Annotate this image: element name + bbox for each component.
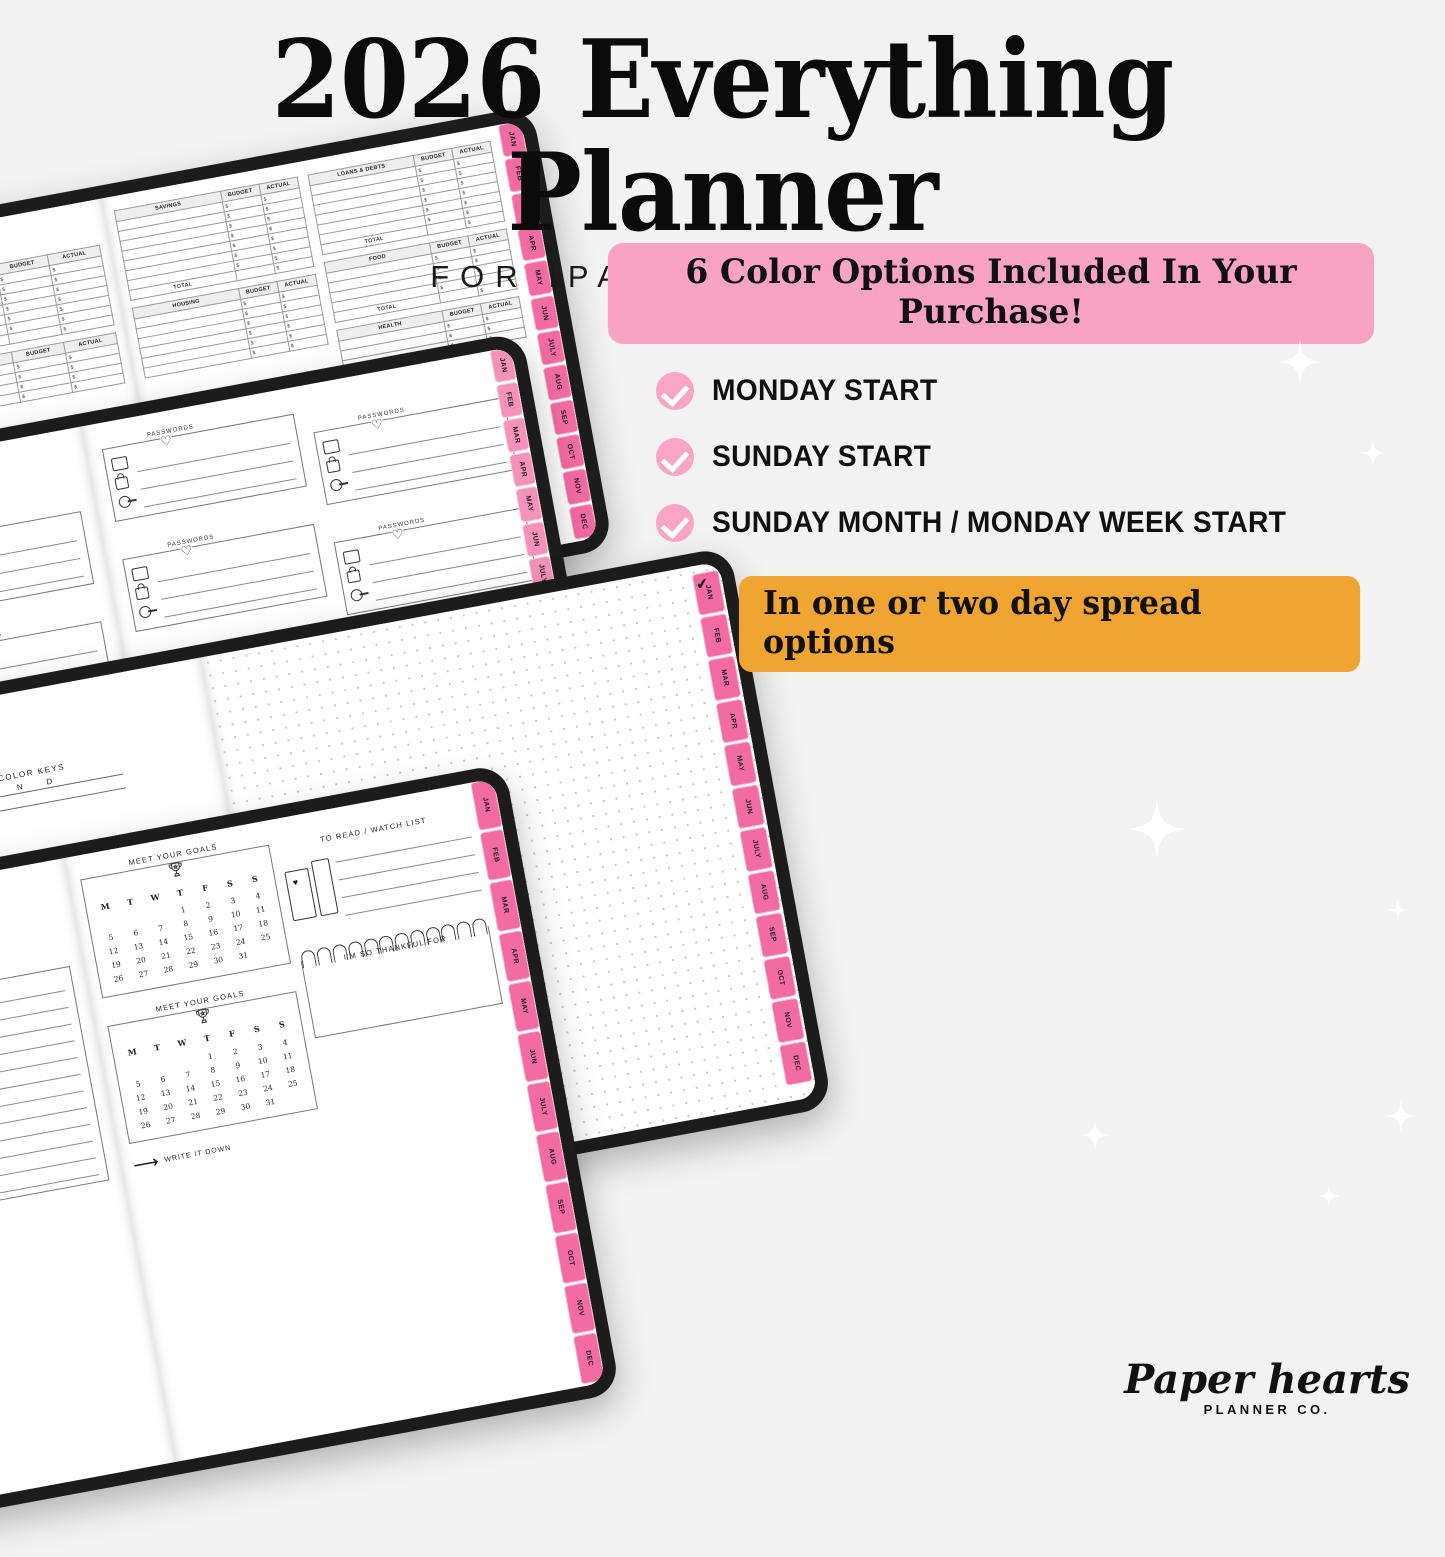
key-icon (118, 495, 132, 509)
password-card-label: PASSWORDS (0, 631, 6, 647)
month-tab-sep[interactable]: SEP (545, 1181, 578, 1234)
calendar-day[interactable]: 27 (157, 1111, 184, 1129)
month-tab-july[interactable]: JULY (526, 1080, 559, 1133)
calendar-day[interactable]: 29 (180, 956, 207, 974)
thankful-section: I'M SO THANKFUL FOR (300, 926, 503, 1039)
lock-icon (346, 569, 361, 583)
lock-icon (114, 476, 129, 490)
page-title: 2026 Everything Planner (58, 24, 1387, 251)
trophy-icon (164, 859, 187, 880)
tablet-monthly-screen: January THIS MONTH'S TO DO'S (0, 779, 606, 1542)
feature-row-sunday-start: SUNDAY START (656, 438, 1386, 476)
monitor-icon (111, 456, 129, 472)
month-tab-apr[interactable]: APR (509, 451, 537, 488)
feature-label: MONDAY START (712, 374, 937, 408)
write-it-down-label: WRITE IT DOWN (164, 1145, 232, 1164)
month-tab-mar[interactable]: MAR (502, 416, 530, 453)
password-card[interactable]: PASSWORDS ♡ (122, 524, 327, 632)
check-icon (656, 438, 694, 476)
feature-label: SUNDAY MONTH / MONDAY WEEK START (712, 506, 1286, 540)
color-options-banner: 6 Color Options Included In Your Purchas… (608, 243, 1374, 344)
heart-icon: ♥ (292, 877, 299, 888)
calendar-day[interactable]: 29 (207, 1102, 234, 1120)
heart-icon: ♡ (370, 417, 384, 432)
check-icon (656, 372, 694, 410)
thankful-note[interactable]: I'M SO THANKFUL FOR (300, 926, 503, 1039)
calendar-day[interactable]: 30 (205, 951, 232, 969)
month-tab-jan[interactable]: JAN (489, 347, 517, 384)
trophy-icon (191, 1005, 214, 1026)
spiral-binding-icon (300, 917, 490, 969)
month-tab-aug[interactable]: AUG (535, 1131, 568, 1184)
password-card[interactable]: PASSWORDS ♡ (0, 511, 94, 619)
month-tab-oct[interactable]: OCT (554, 1231, 587, 1284)
calendar-day[interactable]: 25 (279, 1074, 306, 1092)
calendar-day[interactable]: 28 (182, 1106, 209, 1124)
calendar-day[interactable]: 28 (155, 960, 182, 978)
password-card[interactable]: PASSWORDS ♡ (102, 414, 307, 522)
lock-icon (325, 459, 340, 473)
month-tab-jun[interactable]: JUN (522, 521, 550, 558)
sparkle-icon (1128, 800, 1186, 858)
check-icon (656, 504, 694, 542)
sparkle-icon (1318, 1185, 1340, 1207)
monitor-icon (131, 566, 149, 582)
month-tab-nov[interactable]: NOV (563, 1282, 596, 1335)
logo-sub-text: PLANNER CO. (1124, 1402, 1410, 1417)
heart-icon: ♡ (159, 433, 173, 448)
calendar-day[interactable]: 30 (232, 1097, 259, 1115)
monitor-icon (342, 549, 360, 565)
heart-icon: ♡ (391, 527, 405, 542)
month-tab-dec[interactable]: DEC (573, 1332, 606, 1385)
calendar-day[interactable]: 31 (230, 946, 257, 964)
info-panel: 6 Color Options Included In Your Purchas… (596, 243, 1386, 672)
month-tab-aug[interactable]: AUG (543, 364, 573, 401)
sparkle-icon (1385, 1100, 1417, 1132)
spread-options-badge: In one or two day spread options (739, 576, 1360, 672)
book-icon: ♥ (284, 868, 317, 922)
month-tab-dec[interactable]: DEC (568, 503, 598, 540)
sparkle-icon (1080, 1120, 1110, 1150)
calendar-day[interactable]: 26 (132, 1116, 159, 1134)
month-tab-jun[interactable]: JUN (530, 294, 560, 331)
feature-label: SUNDAY START (712, 440, 931, 474)
key-icon (138, 605, 152, 619)
sparkle-icon (1388, 900, 1408, 920)
feature-row-sunday-month-monday-week: SUNDAY MONTH / MONDAY WEEK START (656, 504, 1386, 542)
month-tab-oct[interactable]: OCT (556, 433, 586, 470)
monitor-icon (322, 439, 340, 455)
lock-icon (135, 586, 150, 600)
calendar-day[interactable]: 27 (130, 965, 157, 983)
calendar-day[interactable]: 31 (257, 1092, 284, 1110)
heart-icon: ♡ (180, 543, 194, 558)
month-tab-july[interactable]: JULY (536, 329, 566, 366)
brand-logo: Paper hearts PLANNER CO. (1124, 1360, 1410, 1417)
calendar-day[interactable]: 25 (252, 928, 279, 946)
month-tab-feb[interactable]: FEB (496, 382, 524, 419)
month-tab-may[interactable]: MAY (515, 486, 543, 523)
month-tab-sep[interactable]: SEP (549, 399, 579, 436)
calendar-day[interactable]: 26 (105, 970, 132, 988)
key-icon (329, 478, 343, 492)
month-tab-nov[interactable]: NOV (562, 468, 592, 505)
key-icon (349, 588, 363, 602)
password-card[interactable]: PASSWORDS ♡ (313, 397, 518, 505)
logo-script-text: Paper hearts (1124, 1360, 1410, 1400)
feature-row-monday-start: MONDAY START (656, 372, 1386, 410)
arrow-right-icon: ⟶ (131, 1151, 160, 1176)
